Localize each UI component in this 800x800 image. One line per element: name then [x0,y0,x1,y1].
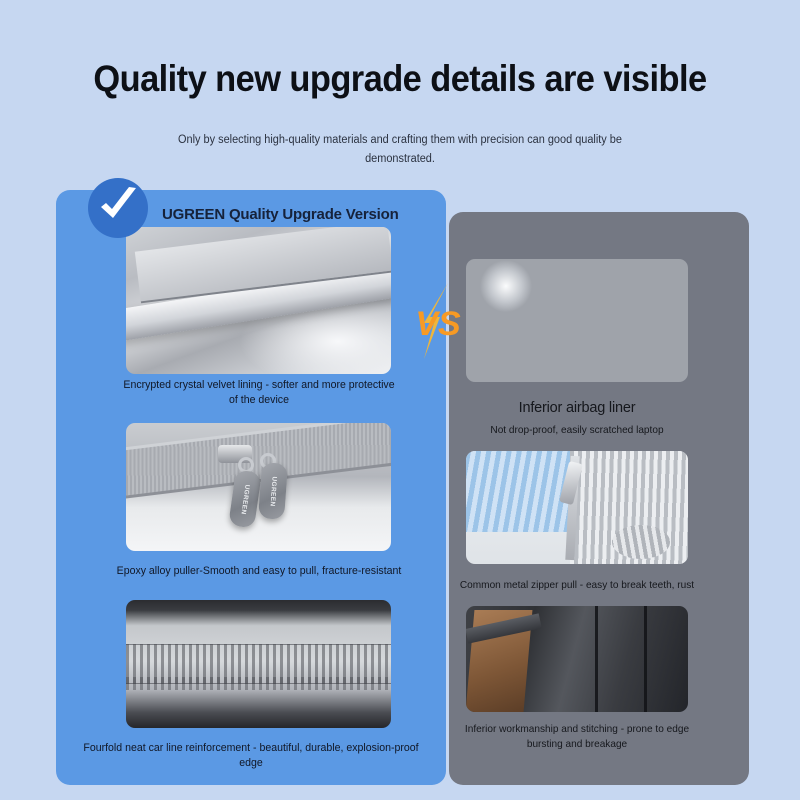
epoxy-zipper-pull-photo: UGREEN UGREEN [126,423,391,551]
svg-text:VS: VS [415,305,461,343]
airbag-liner-photo [466,259,688,382]
infographic-page: Quality new upgrade details are visible … [0,0,800,800]
airbag-liner-title: Inferior airbag liner [466,400,688,416]
seam-line [644,606,647,712]
vs-badge: VS [404,283,474,359]
zipper-pull-brand: UGREEN [239,484,250,515]
seam-line [595,606,598,712]
epoxy-puller-caption: Epoxy alloy puller-Smooth and easy to pu… [110,564,408,579]
page-title: Quality new upgrade details are visible [28,58,772,100]
common-zipper-caption: Common metal zipper pull - easy to break… [457,578,697,593]
velvet-lining-photo [126,227,391,374]
stitched-edge-photo [126,600,391,728]
velvet-lining-caption: Encrypted crystal velvet lining - softer… [120,378,398,408]
check-circle-icon [88,178,148,238]
blue-striped-fabric [466,451,570,532]
poor-stitching-photo [466,606,688,712]
poor-stitching-caption: Inferior workmanship and stitching - pro… [457,722,697,752]
airbag-liner-caption: Not drop-proof, easily scratched laptop [470,423,683,438]
upgrade-panel-heading: UGREEN Quality Upgrade Version [162,206,399,223]
zipper-pull-brand: UGREEN [268,476,277,507]
page-subtitle: Only by selecting high-quality materials… [163,131,638,169]
common-zipper-photo [466,451,688,564]
reinforcement-caption: Fourfold neat car line reinforcement - b… [83,741,419,771]
zipper-pull-tag: UGREEN [258,462,288,520]
